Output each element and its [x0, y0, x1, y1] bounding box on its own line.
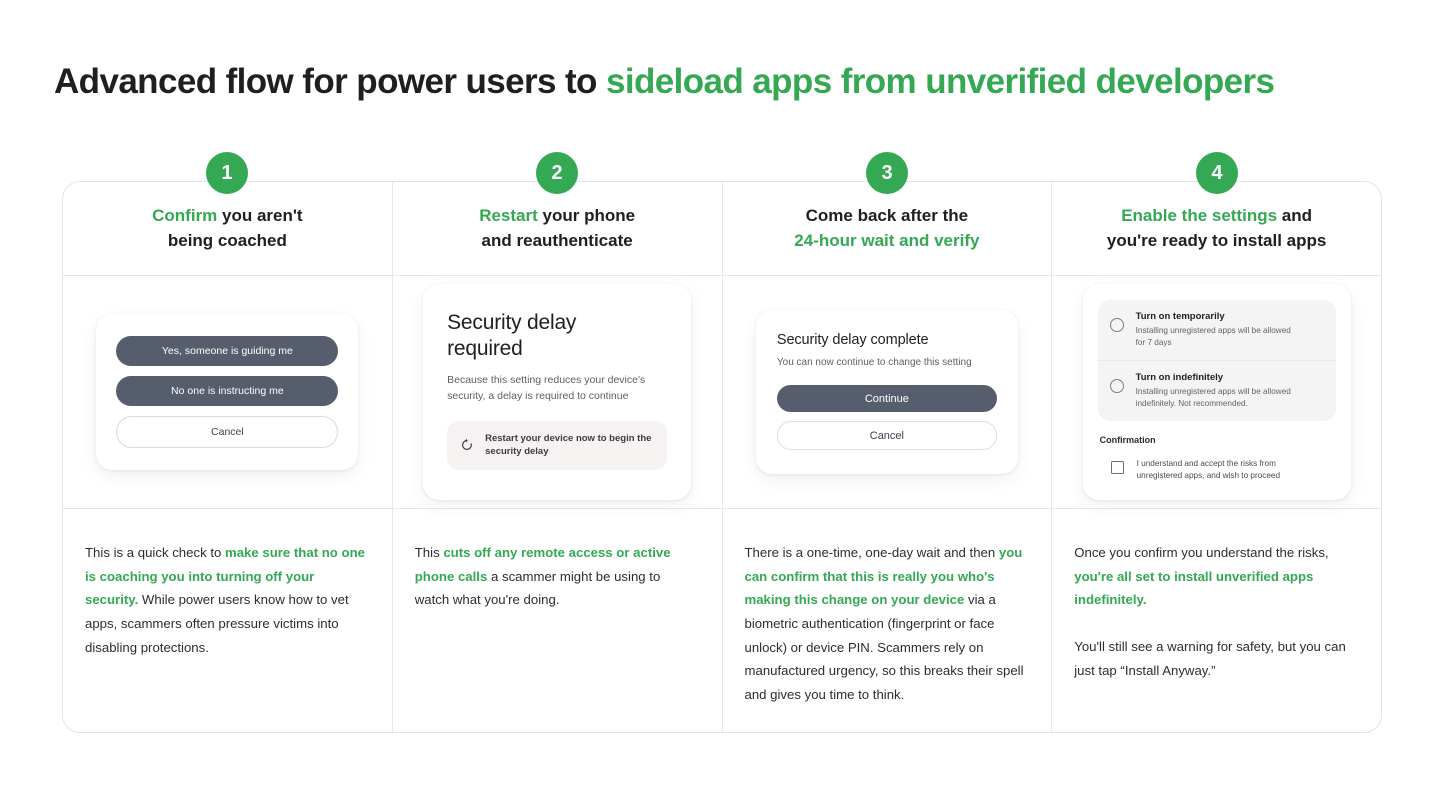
desc-4-a: Once you confirm you understand the risk…: [1074, 545, 1328, 560]
radio-icon-temporarily[interactable]: [1110, 318, 1124, 332]
mockup-shell-4: Turn on temporarily Installing unregiste…: [1083, 284, 1351, 501]
security-delay-required-dialog: Security delay required Because this set…: [423, 284, 691, 500]
step-header-line2-2: and reauthenticate: [482, 231, 633, 250]
step-header-3: Come back after the 24-hour wait and ver…: [723, 182, 1053, 275]
checkbox-line1: I understand and accept the risks from: [1137, 459, 1276, 468]
step-header-text-4: Enable the settings and you're ready to …: [1107, 204, 1326, 253]
radio-option-indefinitely-text: Turn on indefinitely Installing unregist…: [1136, 372, 1291, 410]
coaching-check-dialog: Yes, someone is guiding me No one is ins…: [96, 314, 358, 470]
description-text-3: There is a one-time, one-day wait and th…: [745, 541, 1026, 706]
no-instructing-button[interactable]: No one is instructing me: [116, 376, 338, 406]
mockup-cell-4: Turn on temporarily Installing unregiste…: [1052, 276, 1381, 508]
security-delay-body: Because this setting reduces your device…: [447, 373, 667, 405]
radio-option-temporarily[interactable]: Turn on temporarily Installing unregiste…: [1098, 300, 1336, 360]
security-delay-title-line2: required: [447, 337, 522, 360]
radio-option-temporarily-text: Turn on temporarily Installing unregiste…: [1136, 311, 1291, 349]
enable-settings-dialog: Turn on temporarily Installing unregiste…: [1083, 284, 1351, 501]
security-delay-complete-dialog: Security delay complete You can now cont…: [756, 310, 1018, 474]
step-header-2: Restart your phone and reauthenticate: [393, 182, 723, 275]
table-description-row: This is a quick check to make sure that …: [63, 509, 1381, 732]
radio-desc-temporarily-line2: for 7 days: [1136, 338, 1172, 347]
description-paragraph-gap-4: [1074, 612, 1355, 635]
mockup-shell-1: Yes, someone is guiding me No one is ins…: [96, 314, 358, 470]
restart-action-line2: security delay: [485, 446, 548, 457]
steps-table: Confirm you aren't being coached Restart…: [62, 181, 1382, 733]
restart-icon: [460, 438, 474, 452]
page-title: Advanced flow for power users to sideloa…: [54, 62, 1274, 102]
radio-desc-indefinitely-line1: Installing unregistered apps will be all…: [1136, 387, 1291, 396]
step-header-plain-4: and: [1277, 206, 1312, 225]
confirmation-label: Confirmation: [1100, 435, 1336, 445]
restart-action-line1: Restart your device now to begin the: [485, 433, 651, 444]
continue-button[interactable]: Continue: [777, 385, 997, 412]
step-header-1: Confirm you aren't being coached: [63, 182, 393, 275]
desc-2-a: This: [415, 545, 444, 560]
radio-desc-temporarily-line1: Installing unregistered apps will be all…: [1136, 326, 1291, 335]
yes-guiding-button[interactable]: Yes, someone is guiding me: [116, 336, 338, 366]
radio-title-indefinitely: Turn on indefinitely: [1136, 372, 1291, 384]
confirmation-checkbox-row[interactable]: I understand and accept the risks from u…: [1098, 458, 1336, 483]
radio-icon-indefinitely[interactable]: [1110, 379, 1124, 393]
step-header-accent-1: Confirm: [152, 206, 217, 225]
restart-device-action-text: Restart your device now to begin the sec…: [485, 432, 651, 459]
step-header-text-3: Come back after the 24-hour wait and ver…: [794, 204, 979, 253]
desc-3-a: There is a one-time, one-day wait and th…: [745, 545, 999, 560]
radio-title-temporarily: Turn on temporarily: [1136, 311, 1291, 323]
description-text-4: Once you confirm you understand the risk…: [1074, 541, 1355, 612]
step-header-accent-4: Enable the settings: [1121, 206, 1277, 225]
desc-4-accent: you're all set to install unverified app…: [1074, 569, 1313, 608]
radio-option-indefinitely[interactable]: Turn on indefinitely Installing unregist…: [1098, 360, 1336, 421]
page-title-accent: sideload apps from unverified developers: [606, 62, 1274, 101]
restart-device-action[interactable]: Restart your device now to begin the sec…: [447, 421, 667, 470]
mockup-shell-3: Security delay complete You can now cont…: [756, 310, 1018, 474]
description-cell-3: There is a one-time, one-day wait and th…: [723, 509, 1053, 732]
infographic-page: Advanced flow for power users to sideloa…: [0, 0, 1440, 810]
security-delay-title-line1: Security delay: [447, 311, 576, 334]
step-header-plain-2: your phone: [538, 206, 635, 225]
mockup-cell-2: Security delay required Because this set…: [393, 276, 723, 508]
security-delay-body-line2: security, a delay is required to continu…: [447, 390, 628, 402]
description-cell-2: This cuts off any remote access or activ…: [393, 509, 723, 732]
step-header-accent-3: 24-hour wait and verify: [794, 231, 979, 250]
description-cell-1: This is a quick check to make sure that …: [63, 509, 393, 732]
mockup-shell-2: Security delay required Because this set…: [423, 284, 691, 500]
desc-1-a: This is a quick check to: [85, 545, 225, 560]
table-header-row: Confirm you aren't being coached Restart…: [63, 182, 1381, 276]
checkbox-icon[interactable]: [1111, 461, 1124, 474]
mockup-cell-3: Security delay complete You can now cont…: [723, 276, 1053, 508]
step-header-line2-4: you're ready to install apps: [1107, 231, 1326, 250]
description-text-2: This cuts off any remote access or activ…: [415, 541, 696, 612]
table-mockup-row: Yes, someone is guiding me No one is ins…: [63, 276, 1381, 509]
radio-desc-indefinitely-line2: indefinitely. Not recommended.: [1136, 399, 1248, 408]
step-header-accent-2: Restart: [479, 206, 538, 225]
step-header-plain-1: you aren't: [217, 206, 302, 225]
radio-desc-temporarily: Installing unregistered apps will be all…: [1136, 325, 1291, 349]
mockup-cell-1: Yes, someone is guiding me No one is ins…: [63, 276, 393, 508]
security-delay-body-line1: Because this setting reduces your device…: [447, 374, 645, 386]
radio-desc-indefinitely: Installing unregistered apps will be all…: [1136, 386, 1291, 410]
description-cell-4: Once you confirm you understand the risk…: [1052, 509, 1381, 732]
page-title-lead: Advanced flow for power users to: [54, 62, 606, 101]
delay-complete-subtitle: You can now continue to change this sett…: [777, 356, 997, 370]
step-header-4: Enable the settings and you're ready to …: [1052, 182, 1381, 275]
description-text-1: This is a quick check to make sure that …: [85, 541, 366, 659]
step-header-text-1: Confirm you aren't being coached: [152, 204, 302, 253]
security-delay-title: Security delay required: [447, 310, 667, 361]
step-header-text-2: Restart your phone and reauthenticate: [479, 204, 635, 253]
step-header-line2-1: being coached: [168, 231, 287, 250]
desc-3-b: via a biometric authentication (fingerpr…: [745, 592, 1024, 702]
delay-complete-title: Security delay complete: [777, 332, 997, 348]
step-header-plain-3: Come back after the: [806, 206, 969, 225]
description-text-4-p2: You'll still see a warning for safety, b…: [1074, 635, 1355, 682]
checkbox-line2: unregistered apps, and wish to proceed: [1137, 471, 1280, 480]
cancel-button-3[interactable]: Cancel: [777, 421, 997, 450]
turn-on-radio-group: Turn on temporarily Installing unregiste…: [1098, 300, 1336, 421]
cancel-button-1[interactable]: Cancel: [116, 416, 338, 448]
confirmation-checkbox-text: I understand and accept the risks from u…: [1137, 458, 1280, 483]
